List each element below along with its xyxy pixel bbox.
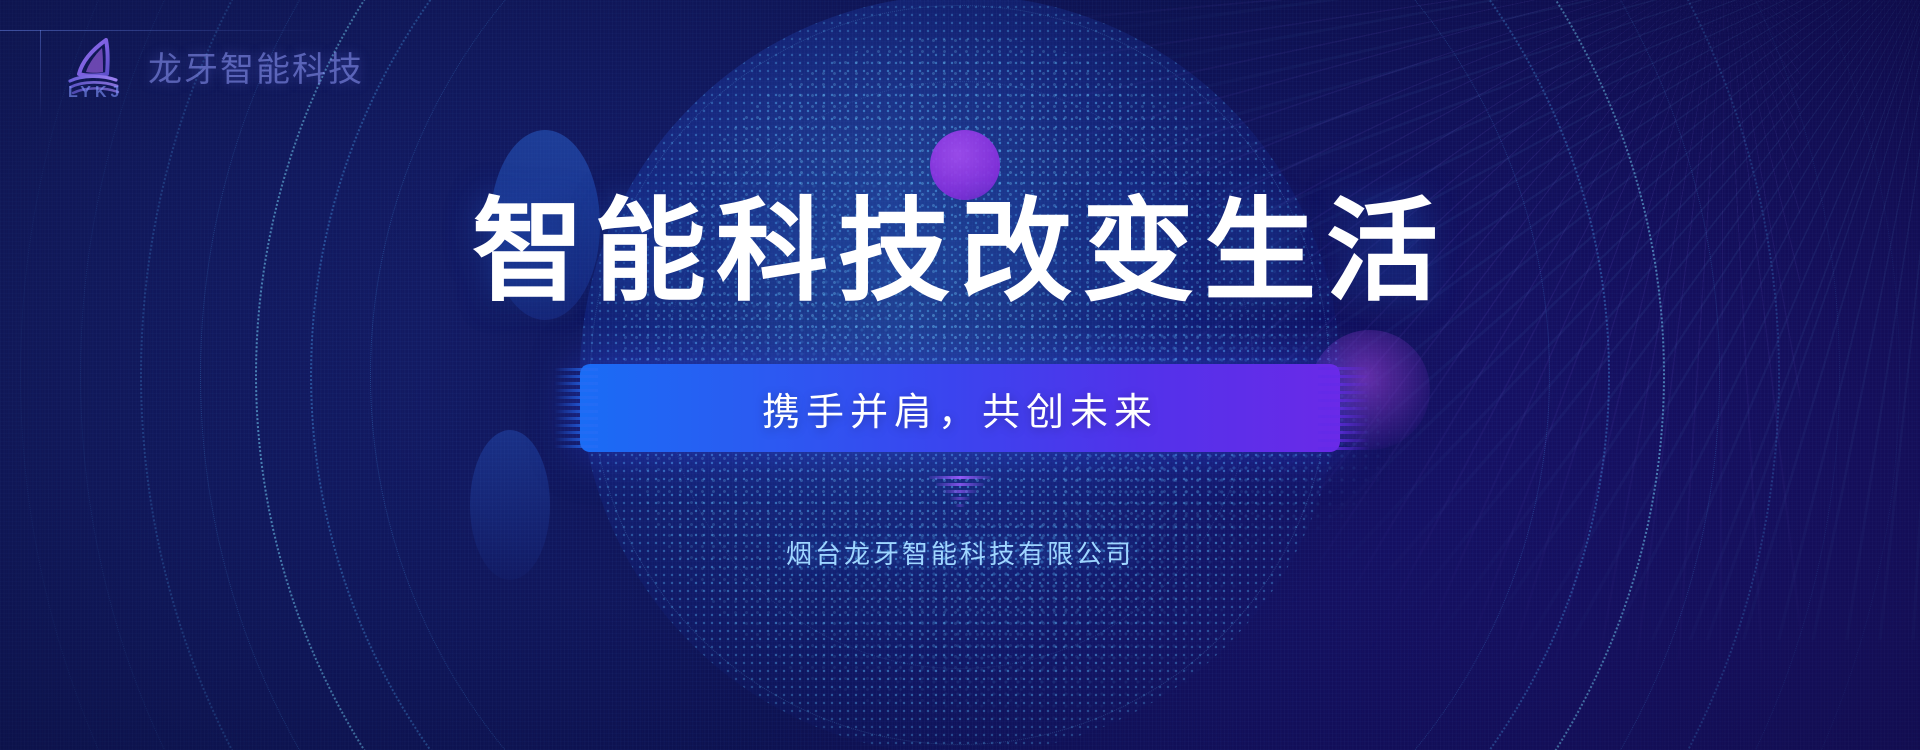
hero-content: 智能科技改变生活 携手并肩，共创未来 烟台龙牙智能科技有限公司	[0, 0, 1920, 750]
cta-banner-label: 携手并肩，共创未来	[762, 381, 1158, 436]
chevron-down-icon[interactable]	[928, 476, 992, 510]
hero-banner: LYKJ 龙牙智能科技 智能科技改变生活 携手并肩，共创未来 烟台龙牙智能科技有…	[0, 0, 1920, 750]
hero-headline: 智能科技改变生活	[472, 196, 1448, 308]
cta-banner[interactable]: 携手并肩，共创未来	[580, 364, 1340, 452]
company-name: 烟台龙牙智能科技有限公司	[786, 534, 1134, 571]
